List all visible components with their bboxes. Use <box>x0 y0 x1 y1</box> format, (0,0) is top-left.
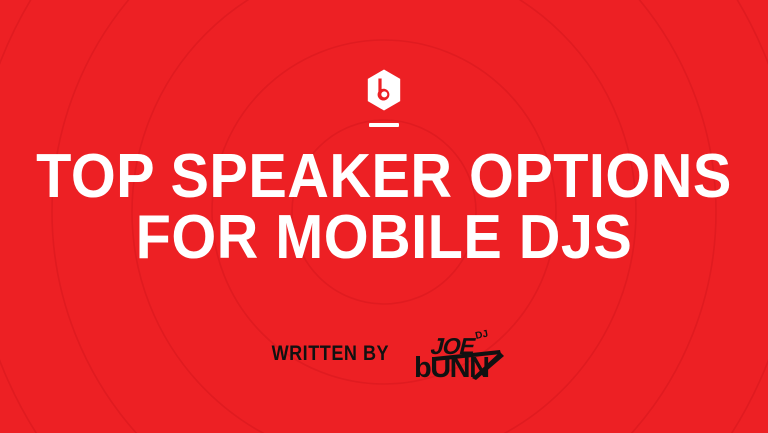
byline-label: WRITTEN BY <box>271 342 389 366</box>
page-title-line-2: FOR MOBILE DJS <box>36 208 732 269</box>
beats-hexagon-logo-icon <box>364 68 404 112</box>
dj-joe-bunn-logo-icon: DJ JOE bUNN <box>414 328 506 380</box>
page-title: TOP SPEAKER OPTIONS FOR MOBILE DJS <box>36 147 732 269</box>
page-title-line-1: TOP SPEAKER OPTIONS <box>36 147 732 208</box>
article-hero-banner: TOP SPEAKER OPTIONS FOR MOBILE DJS WRITT… <box>0 0 768 433</box>
banner-content: TOP SPEAKER OPTIONS FOR MOBILE DJS WRITT… <box>0 0 768 433</box>
dash-divider-icon <box>369 123 399 127</box>
byline: WRITTEN BY DJ JOE bUNN <box>262 328 507 380</box>
